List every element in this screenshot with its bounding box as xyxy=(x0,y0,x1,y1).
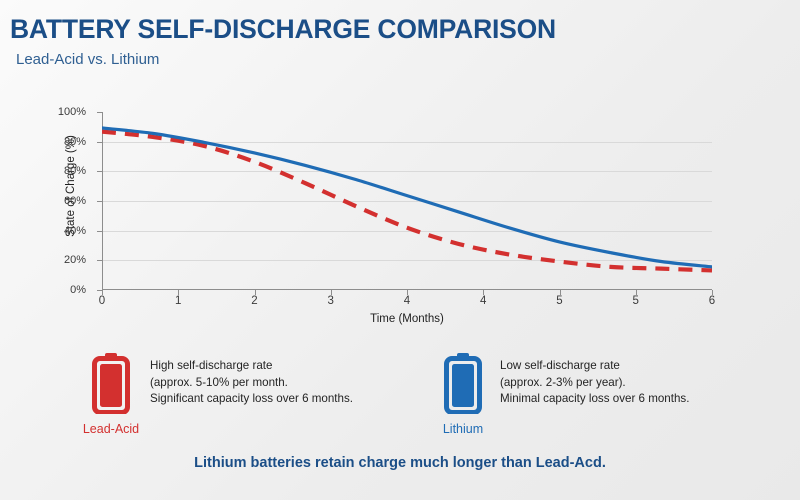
chart: State of Charge (%) 100%80%80%60%40%20%0… xyxy=(44,105,724,330)
y-axis-tick-mark xyxy=(97,171,102,172)
x-axis-tick-label: 0 xyxy=(99,295,105,307)
legend-description-lithium: Low self-discharge rate (approx. 2-3% pe… xyxy=(500,358,689,408)
header: BATTERY SELF-DISCHARGE COMPARISON Lead-A… xyxy=(10,16,770,68)
y-axis-tick-mark xyxy=(97,260,102,261)
y-axis-tick-mark xyxy=(97,201,102,202)
series-line-lead-acid xyxy=(102,132,712,271)
legend-description-lead-acid: High self-discharge rate (approx. 5-10% … xyxy=(150,358,353,408)
x-axis-tick-label: 5 xyxy=(633,295,639,307)
battery-icon xyxy=(444,352,482,414)
legend-icon-column-lithium: Lithium xyxy=(432,352,494,436)
legend-label-lead-acid: Lead-Acid xyxy=(83,422,139,436)
legend-icon-column-lead-acid: Lead-Acid xyxy=(80,352,142,436)
y-axis-tick-label: 40% xyxy=(64,225,86,237)
y-axis-tick-mark xyxy=(97,290,102,291)
legend-description-line-3: Minimal capacity loss over 6 months. xyxy=(500,391,689,408)
series-line-lithium xyxy=(102,128,712,267)
x-axis-tick-label: 5 xyxy=(556,295,562,307)
page-title: BATTERY SELF-DISCHARGE COMPARISON xyxy=(10,16,770,44)
legend-description-line-3: Significant capacity loss over 6 months. xyxy=(150,391,353,408)
legend-description-line-2: (approx. 2-3% per year). xyxy=(500,375,689,392)
y-axis-tick-label: 80% xyxy=(64,136,86,148)
y-axis-tick-label: 100% xyxy=(58,106,86,118)
plot-area xyxy=(102,112,712,290)
legend-description-line-1: Low self-discharge rate xyxy=(500,358,689,375)
y-axis-tick-label: 60% xyxy=(64,195,86,207)
battery-icon xyxy=(92,352,130,414)
y-axis-tick-mark xyxy=(97,112,102,113)
conclusion-text: Lithium batteries retain charge much lon… xyxy=(0,455,800,471)
page-subtitle: Lead-Acid vs. Lithium xyxy=(16,51,770,68)
y-axis-tick-label: 80% xyxy=(64,165,86,177)
x-axis-tick-label: 3 xyxy=(328,295,334,307)
legend-label-lithium: Lithium xyxy=(443,422,483,436)
series-lines xyxy=(102,112,712,290)
legend-description-line-2: (approx. 5-10% per month. xyxy=(150,375,353,392)
x-axis-tick-label: 4 xyxy=(480,295,486,307)
x-axis-title: Time (Months) xyxy=(102,313,712,325)
x-axis-tick-label: 4 xyxy=(404,295,410,307)
legend-item-lead-acid: Lead-Acid High self-discharge rate (appr… xyxy=(80,352,353,436)
infographic-canvas: BATTERY SELF-DISCHARGE COMPARISON Lead-A… xyxy=(0,0,800,500)
y-axis-tick-label: 20% xyxy=(64,254,86,266)
legend-item-lithium: Lithium Low self-discharge rate (approx.… xyxy=(432,352,689,436)
y-axis-tick-mark xyxy=(97,142,102,143)
x-axis-tick-label: 6 xyxy=(709,295,715,307)
y-axis-tick-labels: 100%80%80%60%40%20%0% xyxy=(44,112,92,290)
y-axis-tick-mark xyxy=(97,231,102,232)
y-axis-tick-label: 0% xyxy=(70,284,86,296)
x-axis-tick-label: 2 xyxy=(251,295,257,307)
x-axis-tick-label: 1 xyxy=(175,295,181,307)
x-axis-tick-labels: 012344556 xyxy=(102,295,712,311)
legend-description-line-1: High self-discharge rate xyxy=(150,358,353,375)
